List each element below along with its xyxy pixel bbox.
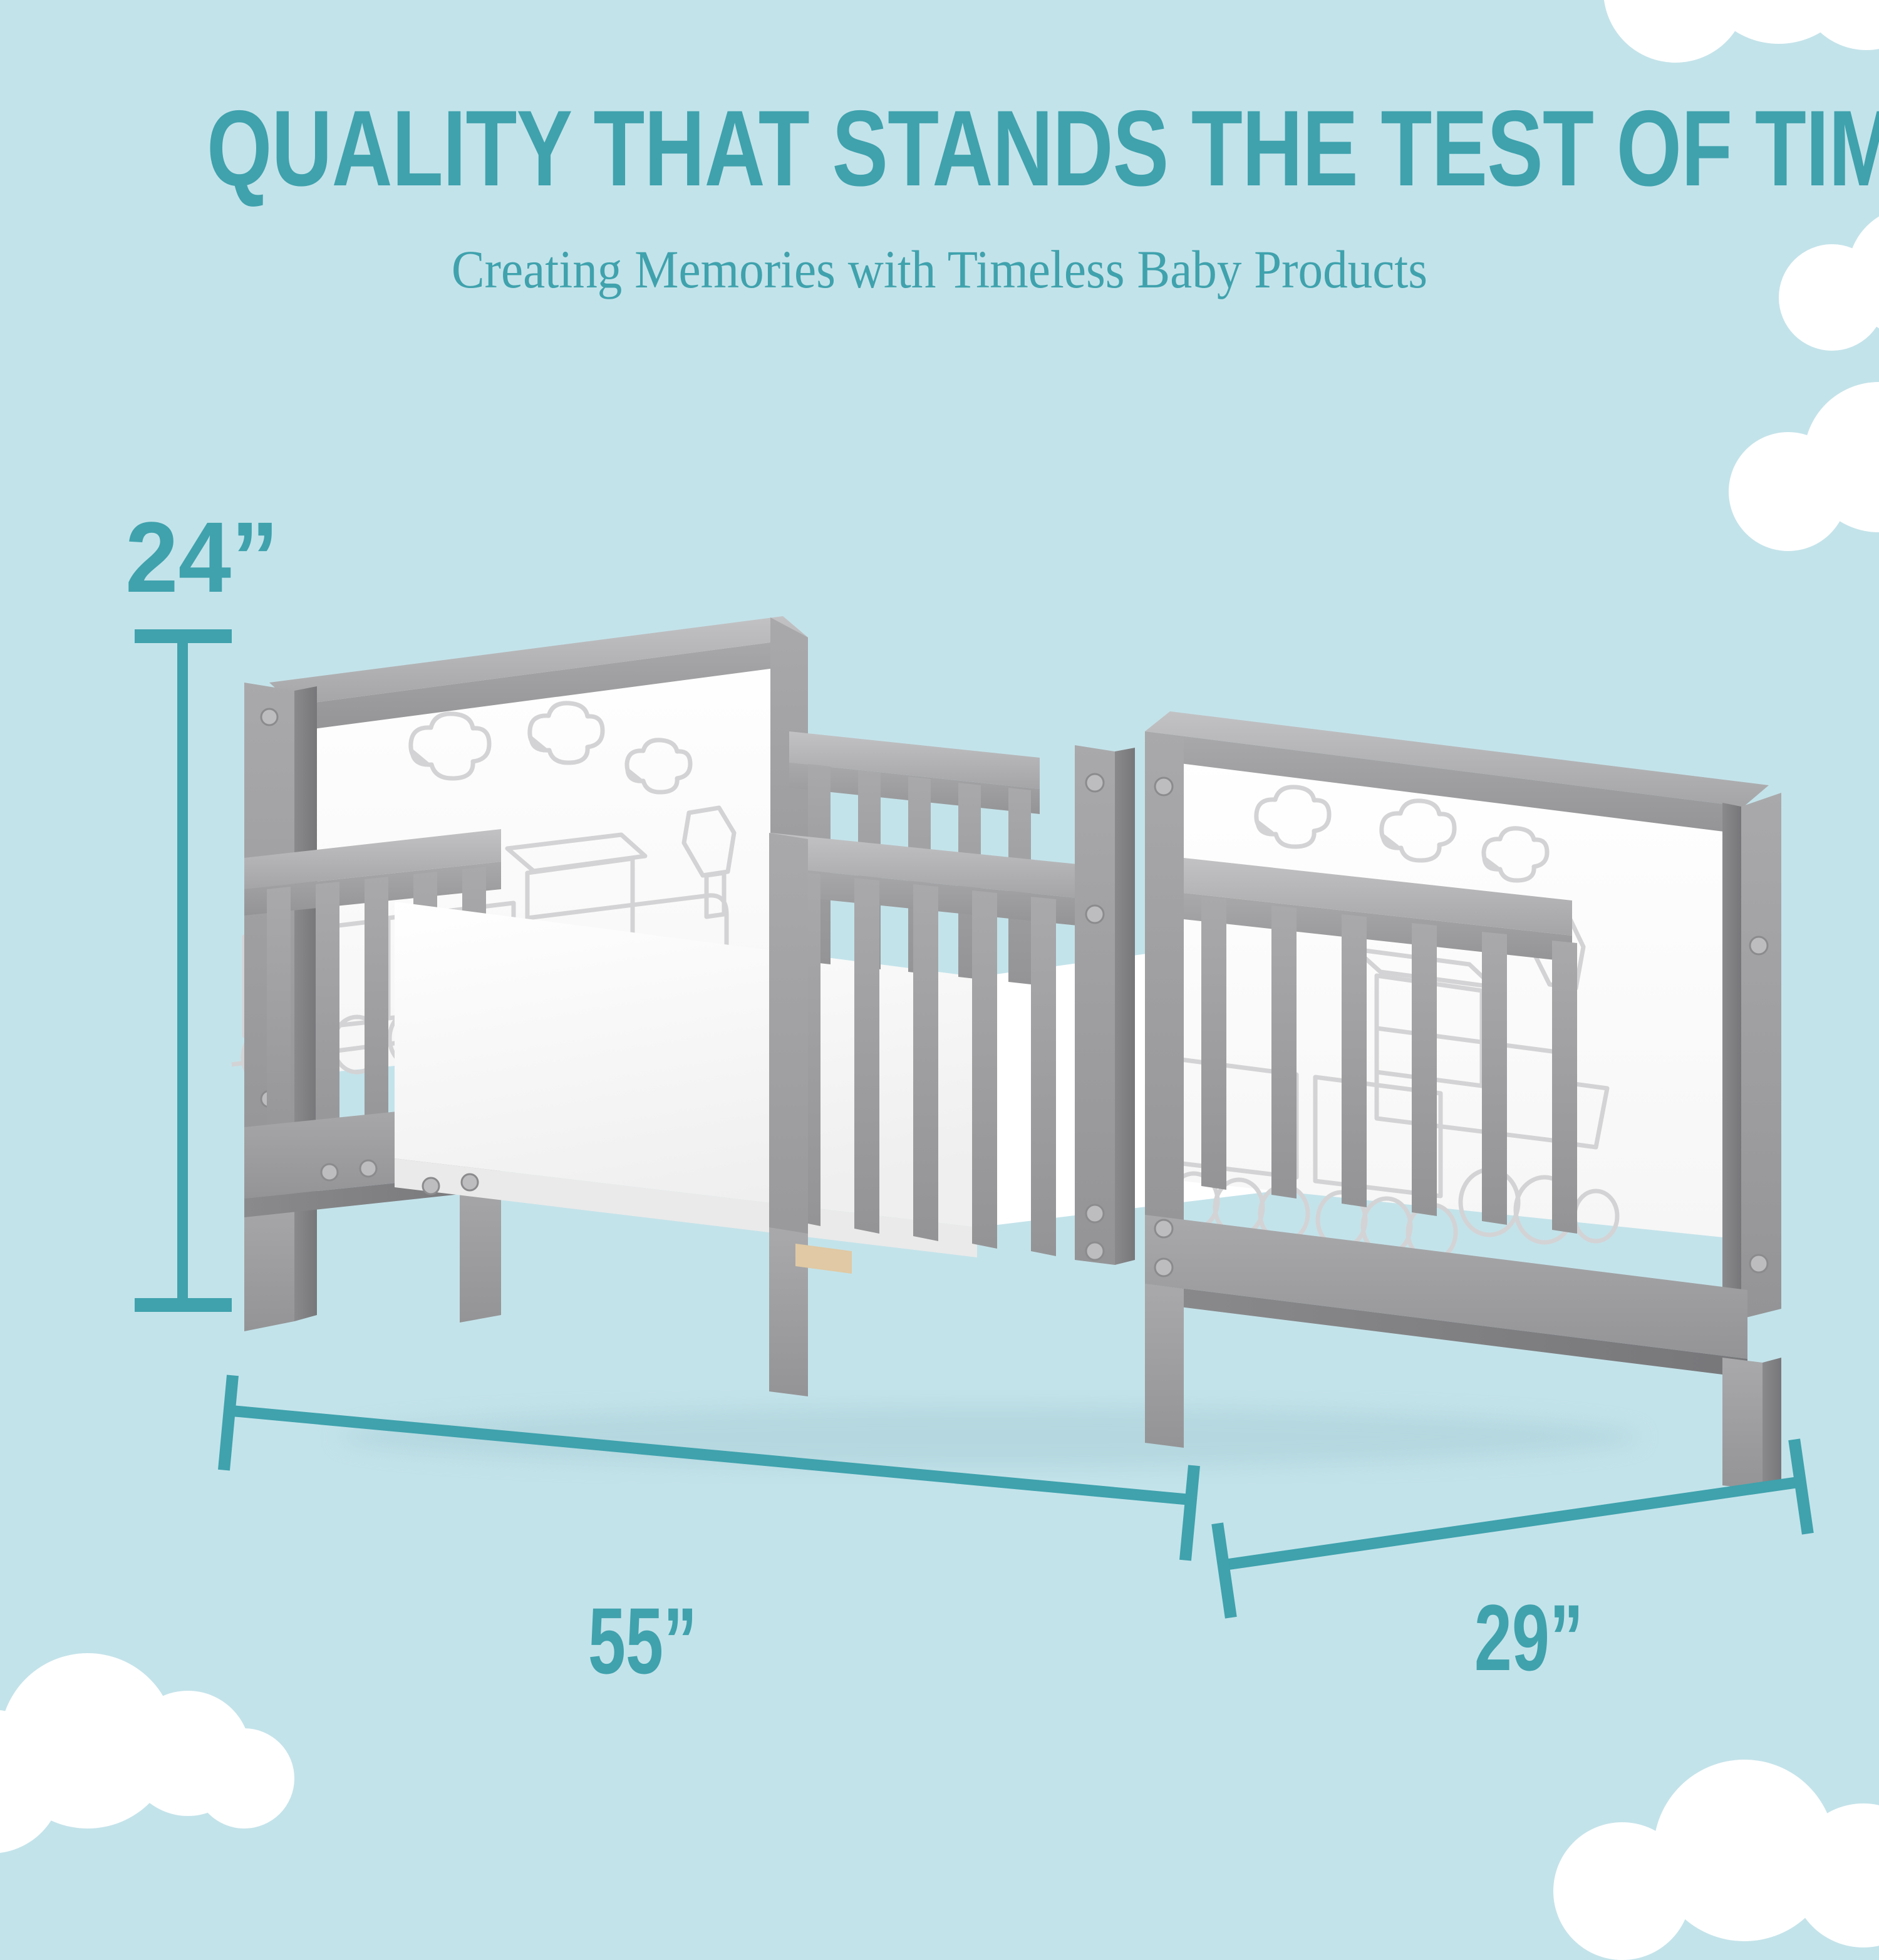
footboard-right-post bbox=[1741, 793, 1781, 1319]
screw-cap bbox=[1086, 774, 1104, 792]
screw-cap bbox=[462, 1174, 478, 1190]
guard-rail-right-post bbox=[1075, 745, 1115, 1265]
screw-cap bbox=[1086, 905, 1104, 923]
cloud-bottom-left-icon bbox=[0, 1641, 313, 1847]
screw-cap bbox=[360, 1160, 376, 1177]
screw-cap bbox=[1086, 1205, 1104, 1222]
cloud-right-upper-icon bbox=[1729, 388, 1879, 576]
screw-cap bbox=[1750, 1255, 1768, 1272]
page-subtitle: Creating Memories with Timeless Baby Pro… bbox=[75, 238, 1804, 301]
infographic-canvas: QUALITY THAT STANDS THE TEST OF TIME Cre… bbox=[0, 0, 1879, 1879]
toddler-bed-illustration bbox=[207, 564, 1835, 1515]
footboard-left-leg bbox=[1145, 1284, 1184, 1448]
width-dimension-cap-left bbox=[1211, 1522, 1236, 1618]
page-title: QUALITY THAT STANDS THE TEST OF TIME bbox=[207, 94, 1672, 204]
height-dimension-label: 24” bbox=[125, 507, 279, 607]
screw-cap bbox=[423, 1178, 439, 1194]
screw-cap bbox=[1155, 1220, 1172, 1237]
cloud-top-right-icon bbox=[1603, 0, 1879, 81]
screw-cap bbox=[261, 709, 277, 725]
height-dimension-line bbox=[177, 629, 188, 1312]
footboard-left-post bbox=[1145, 731, 1184, 1277]
screw-cap bbox=[321, 1164, 338, 1180]
screw-cap bbox=[1750, 937, 1768, 954]
footboard-right-leg bbox=[1722, 1358, 1763, 1490]
cloud-bottom-right-icon bbox=[1553, 1741, 1879, 1954]
screw-cap bbox=[1086, 1242, 1104, 1260]
width-dimension-label: 29” bbox=[1474, 1591, 1583, 1684]
footboard-panel bbox=[1145, 711, 1781, 1490]
screw-cap bbox=[1155, 778, 1172, 795]
screw-cap bbox=[1155, 1259, 1172, 1276]
height-dimension-cap-bottom bbox=[135, 1298, 232, 1312]
length-dimension-label: 55” bbox=[588, 1594, 697, 1688]
height-dimension-cap-top bbox=[135, 629, 232, 643]
